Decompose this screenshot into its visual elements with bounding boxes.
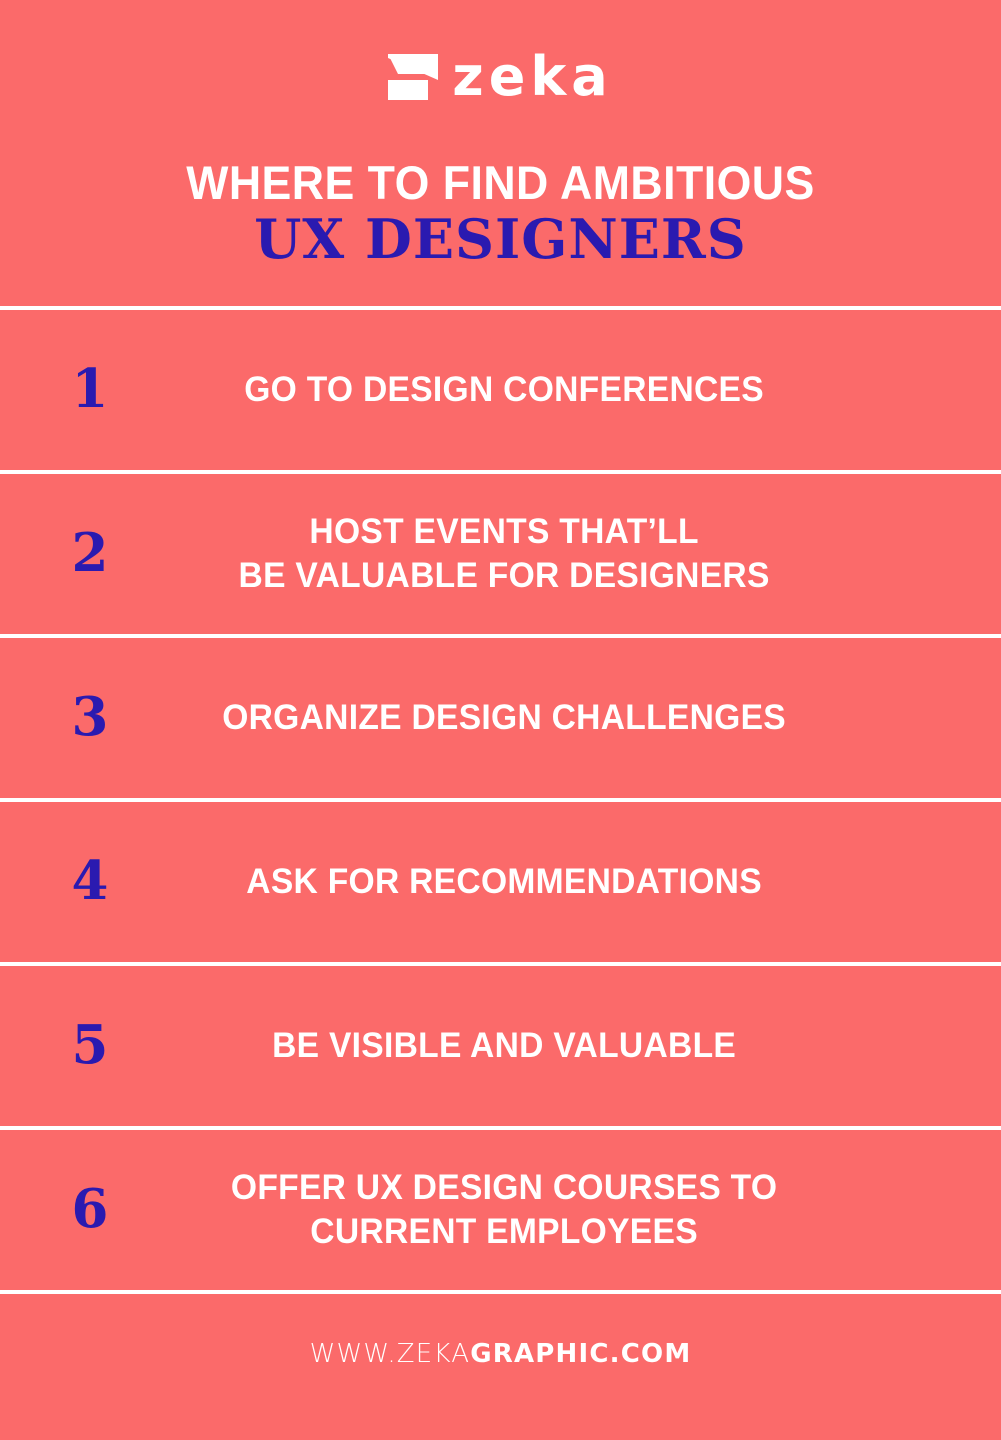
infographic-poster: zeka WHERE TO FIND AMBITIOUS UX DESIGNER… — [0, 0, 1001, 1440]
list-item-number: 5 — [0, 1019, 180, 1072]
page-title-line-1: WHERE TO FIND AMBITIOUS — [25, 158, 976, 207]
page-title-line-2: UX DESIGNERS — [0, 209, 1001, 269]
list-item-text: ORGANIZE DESIGN CHALLENGES — [196, 696, 984, 740]
tips-list: 1 GO TO DESIGN CONFERENCES 2 HOST EVENTS… — [0, 310, 1001, 1290]
brand-wordmark: zeka — [452, 50, 612, 104]
list-item-number: 1 — [0, 363, 180, 416]
list-item-text: OFFER UX DESIGN COURSES TO CURRENT EMPLO… — [196, 1166, 984, 1254]
list-item[interactable]: 5 BE VISIBLE AND VALUABLE — [0, 966, 1001, 1126]
list-item-text: HOST EVENTS THAT’LL BE VALUABLE FOR DESI… — [196, 510, 984, 598]
list-item-text-line: BE VALUABLE FOR DESIGNERS — [196, 554, 811, 598]
list-item-text-line: HOST EVENTS THAT’LL — [196, 510, 811, 554]
poster-footer: WWW.ZEKAGRAPHIC.COM — [0, 1294, 1001, 1397]
zeka-diagonal-square-mark-icon — [388, 54, 438, 100]
list-item-text-line: OFFER UX DESIGN COURSES TO — [196, 1166, 811, 1210]
poster-header: zeka — [0, 0, 1001, 108]
footer-url-light-part: WWW.ZEKA — [310, 1339, 471, 1369]
list-item[interactable]: 4 ASK FOR RECOMMENDATIONS — [0, 802, 1001, 962]
list-item[interactable]: 6 OFFER UX DESIGN COURSES TO CURRENT EMP… — [0, 1130, 1001, 1290]
list-item-text: GO TO DESIGN CONFERENCES — [196, 368, 984, 412]
list-item[interactable]: 3 ORGANIZE DESIGN CHALLENGES — [0, 638, 1001, 798]
page-title: WHERE TO FIND AMBITIOUS UX DESIGNERS — [0, 108, 1001, 270]
list-item-text-line: CURRENT EMPLOYEES — [196, 1210, 811, 1254]
list-item-text-line: ORGANIZE DESIGN CHALLENGES — [196, 696, 811, 740]
footer-url-bold-part: GRAPHIC.COM — [470, 1339, 691, 1369]
list-item-number: 2 — [0, 527, 180, 580]
list-item[interactable]: 2 HOST EVENTS THAT’LL BE VALUABLE FOR DE… — [0, 474, 1001, 634]
footer-website-url[interactable]: WWW.ZEKAGRAPHIC.COM — [310, 1341, 692, 1367]
brand-logo: zeka — [0, 46, 1001, 108]
list-item-number: 4 — [0, 855, 180, 908]
list-item-number: 3 — [0, 691, 180, 744]
list-item[interactable]: 1 GO TO DESIGN CONFERENCES — [0, 310, 1001, 470]
list-item-text: BE VISIBLE AND VALUABLE — [196, 1024, 984, 1068]
list-item-text-line: GO TO DESIGN CONFERENCES — [196, 368, 811, 412]
list-item-text-line: ASK FOR RECOMMENDATIONS — [196, 860, 811, 904]
list-item-text-line: BE VISIBLE AND VALUABLE — [196, 1024, 811, 1068]
footer-bottom-spacer — [0, 1397, 1001, 1440]
list-item-number: 6 — [0, 1183, 180, 1236]
list-item-text: ASK FOR RECOMMENDATIONS — [196, 860, 984, 904]
title-bottom-spacer — [0, 270, 1001, 306]
